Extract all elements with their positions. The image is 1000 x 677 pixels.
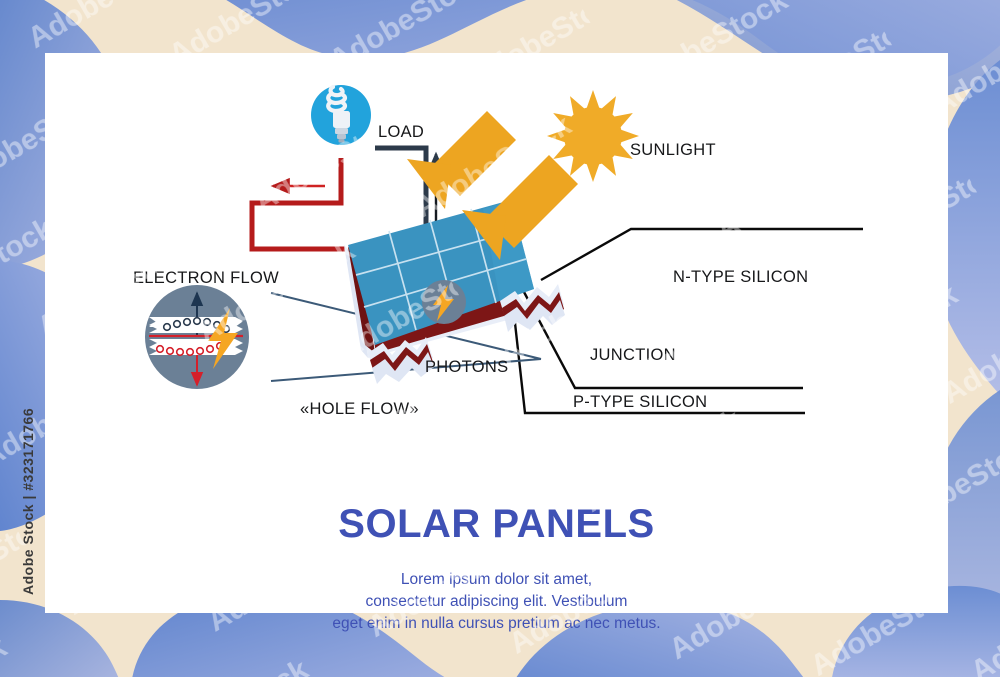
cfl-bulb-icon: [311, 85, 371, 145]
label-sunlight: SUNLIGHT: [630, 141, 716, 160]
subtitle-line-3: eget enim in nulla cursus pretium ac nec…: [217, 613, 777, 635]
page-title: SOLAR PANELS: [45, 502, 948, 547]
lightning-bolt-badge: [422, 280, 466, 324]
label-electron-flow: ELECTRON FLOW: [133, 269, 279, 288]
label-junction: JUNCTION: [590, 346, 676, 365]
leader-line-junction: [524, 292, 803, 388]
label-photons: PHOTONS: [425, 358, 508, 377]
watermark-id-vertical: Adobe Stock | #323171766: [20, 415, 36, 595]
label-n-type-silicon: N-TYPE SILICON: [673, 268, 808, 287]
poster-stage: SUNLIGHT LOAD N-TYPE SILICON JUNCTION P-…: [0, 0, 1000, 677]
page-subtitle: Lorem ipsum dolor sit amet, consectetur …: [217, 569, 777, 635]
label-p-type-silicon: P-TYPE SILICON: [573, 393, 707, 412]
subtitle-line-1: Lorem ipsum dolor sit amet,: [217, 569, 777, 591]
poster-card: SUNLIGHT LOAD N-TYPE SILICON JUNCTION P-…: [45, 53, 948, 613]
load-wire-positive: [252, 158, 345, 249]
subtitle-line-2: consectetur adipiscing elit. Vestibulum: [217, 591, 777, 613]
label-hole-flow: «HOLE FLOW»: [300, 400, 419, 419]
label-load: LOAD: [378, 123, 424, 142]
hole-flow-inset: [145, 285, 249, 389]
